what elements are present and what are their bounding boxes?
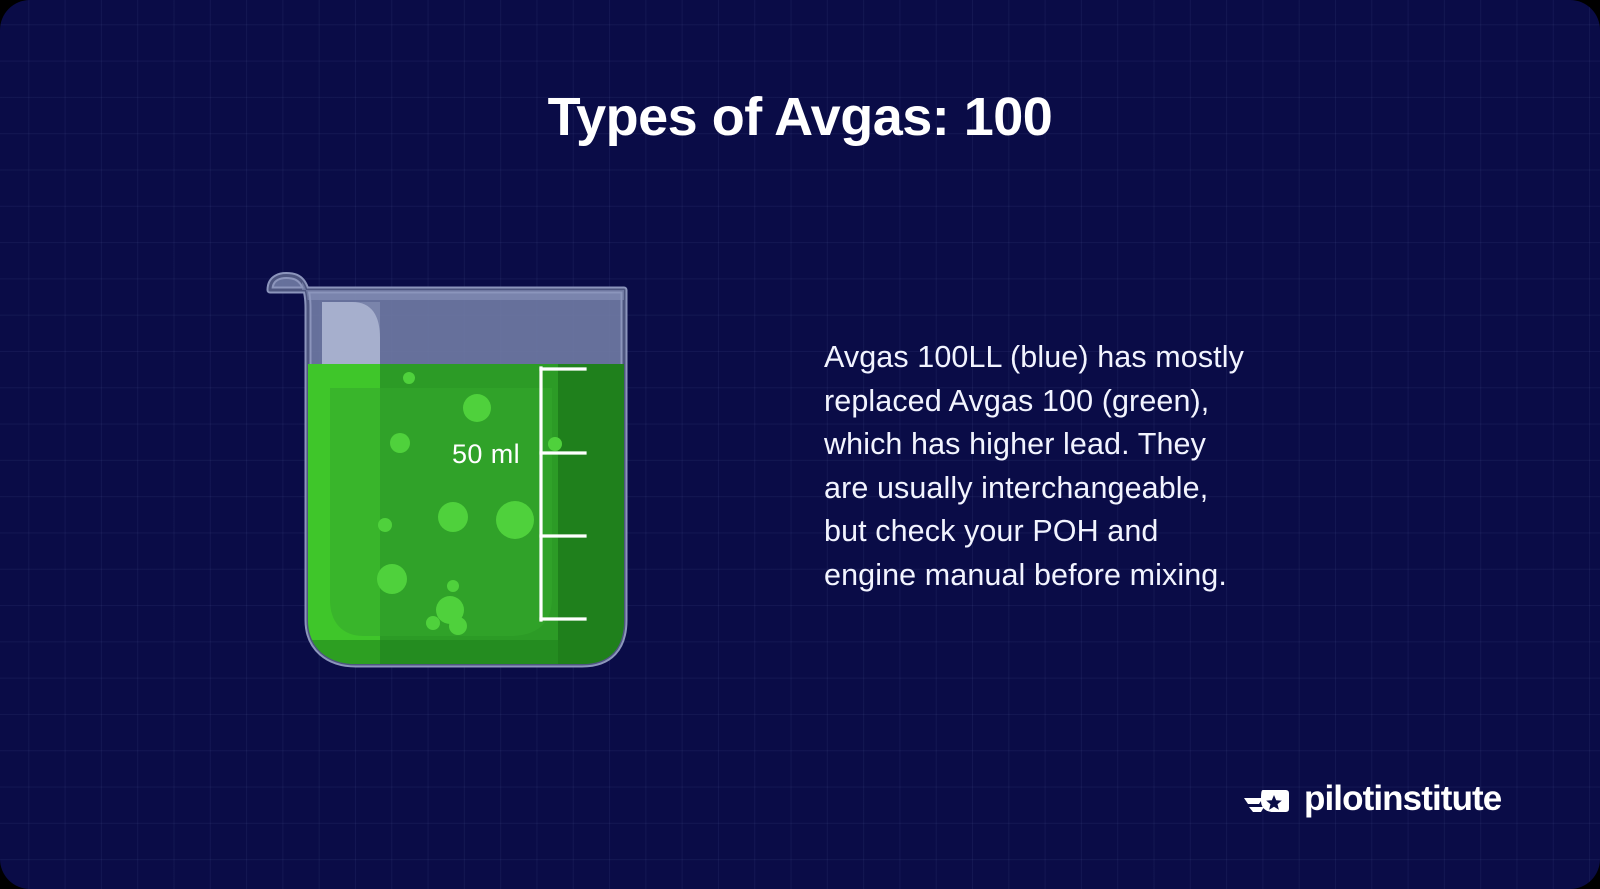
slide-canvas: Types of Avgas: 100 Avgas 100LL (blue) h… [0,0,1600,889]
bubble [377,564,407,594]
bubble [548,437,562,451]
bubble [403,372,415,384]
bubble [438,502,468,532]
beaker-spout-highlight [322,302,380,364]
brand-logo-text: pilotinstitute [1304,781,1501,816]
beaker-svg [252,268,638,672]
bubble [390,433,410,453]
beaker-rim-highlight [302,282,632,300]
bubble [496,501,534,539]
bubble [463,394,491,422]
bubble [447,580,459,592]
body-paragraph: Avgas 100LL (blue) has mostly replaced A… [824,336,1344,597]
beaker-illustration: 50 ml [252,268,638,672]
bubble [426,616,440,630]
bubble [449,617,467,635]
winged-star-badge-icon [1243,782,1293,816]
page-title: Types of Avgas: 100 [0,88,1600,147]
brand-logo: pilotinstitute [1243,781,1501,816]
bubble [378,518,392,532]
